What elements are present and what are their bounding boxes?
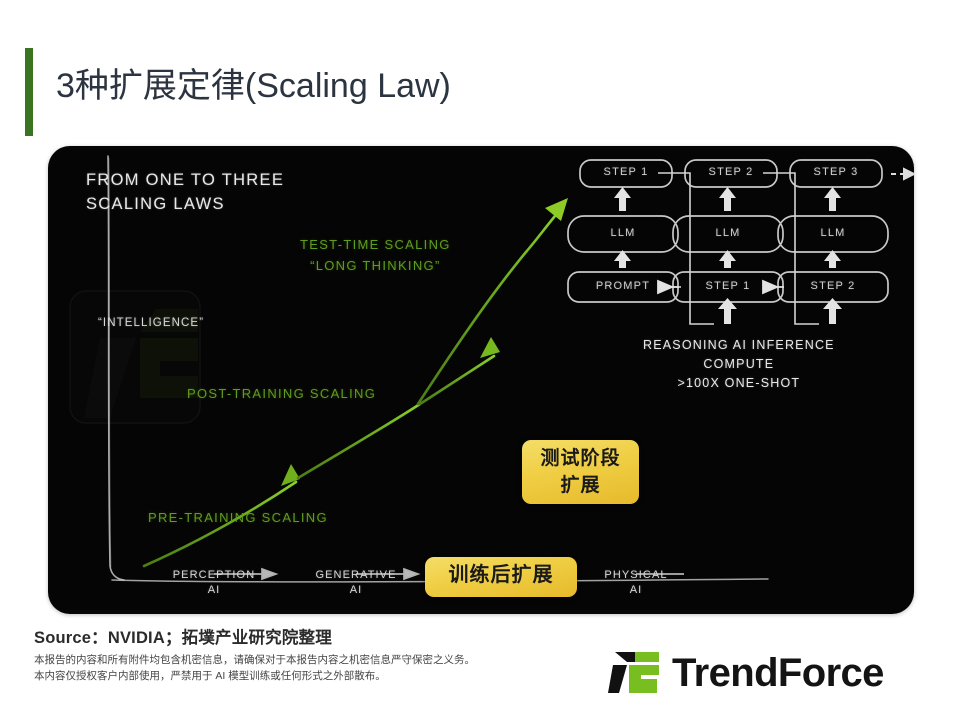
flow-label-step1-bottom: STEP 1 <box>683 280 773 292</box>
trendforce-logo: TrendForce <box>607 646 937 700</box>
arrowhead-test-time <box>545 198 568 221</box>
watermark-logo <box>70 291 200 423</box>
reasoning-caption-line1: REASONING AI INFERENCE <box>643 336 835 355</box>
reasoning-caption-line3: >100X ONE-SHOT <box>643 374 835 393</box>
figure-headline: FROM ONE TO THREE SCALING LAWS <box>86 168 284 216</box>
stage-label-physical: PHYSICAL AI <box>576 568 696 598</box>
page-title: 3种扩展定律(Scaling Law) <box>56 63 451 109</box>
flow-label-step2-bottom: STEP 2 <box>788 280 878 292</box>
disclaimer-line1: 本报告的内容和所有附件均包含机密信息，请确保对于本报告内容之机密信息严守保密之义… <box>34 652 475 668</box>
stage-label-generative: GENERATIVE AI <box>296 568 416 598</box>
badge-test-time-line2: 扩展 <box>535 472 626 499</box>
source-line: Source：NVIDIA；拓墣产业研究院整理 <box>34 624 332 648</box>
stage-physical-line1: PHYSICAL <box>576 568 696 583</box>
slide-canvas: 3种扩展定律(Scaling Law) <box>0 0 960 720</box>
stage-generative-line1: GENERATIVE <box>296 568 416 583</box>
stage-perception-line1: PERCEPTION <box>154 568 274 583</box>
flow-label-step3-top: STEP 3 <box>791 166 881 178</box>
badge-test-time-scaling[interactable]: 测试阶段 扩展 <box>522 440 639 504</box>
arrowhead-post-training <box>480 337 500 358</box>
disclaimer-line2: 本内容仅授权客户内部使用，严禁用于 AI 模型训练或任何形式之外部散布。 <box>34 668 475 684</box>
flowchart-continuation-arrow <box>891 169 914 179</box>
arrowhead-pre-training <box>281 464 300 486</box>
label-post-training-scaling: POST-TRAINING SCALING <box>187 386 376 401</box>
flow-label-llm-2: LLM <box>683 227 773 239</box>
stage-label-perception: PERCEPTION AI <box>154 568 274 598</box>
badge-test-time-line1: 测试阶段 <box>535 445 626 472</box>
reasoning-compute-caption: REASONING AI INFERENCE COMPUTE >100X ONE… <box>643 336 835 393</box>
figure-panel: FROM ONE TO THREE SCALING LAWS “INTELLIG… <box>48 146 914 614</box>
flow-label-step2-top: STEP 2 <box>686 166 776 178</box>
badge-post-training-scaling[interactable]: 训练后扩展 <box>425 557 577 597</box>
title-accent-bar <box>25 48 33 136</box>
stage-perception-line2: AI <box>154 583 274 598</box>
disclaimer-text: 本报告的内容和所有附件均包含机密信息，请确保对于本报告内容之机密信息严守保密之义… <box>34 652 475 684</box>
flow-label-llm-1: LLM <box>578 227 668 239</box>
stage-physical-line2: AI <box>576 583 696 598</box>
y-axis-label: “INTELLIGENCE” <box>98 317 204 329</box>
curve-post-training-lower <box>298 404 420 478</box>
label-test-time-scaling: TEST-TIME SCALING “LONG THINKING” <box>300 234 451 276</box>
reasoning-caption-line2: COMPUTE <box>643 355 835 374</box>
label-test-time-line2: “LONG THINKING” <box>300 255 451 276</box>
trendforce-wordmark: TrendForce <box>672 651 884 695</box>
label-test-time-line1: TEST-TIME SCALING <box>300 234 451 255</box>
flow-label-prompt: PROMPT <box>578 280 668 292</box>
flow-label-llm-3: LLM <box>788 227 878 239</box>
trendforce-mark-icon <box>607 648 663 698</box>
figure-headline-line1: FROM ONE TO THREE <box>86 168 284 192</box>
flow-label-step1-top: STEP 1 <box>581 166 671 178</box>
badge-post-training-line1: 训练后扩展 <box>438 561 564 590</box>
label-pre-training-scaling: PRE-TRAINING SCALING <box>148 510 328 525</box>
stage-generative-line2: AI <box>296 583 416 598</box>
figure-headline-line2: SCALING LAWS <box>86 192 284 216</box>
